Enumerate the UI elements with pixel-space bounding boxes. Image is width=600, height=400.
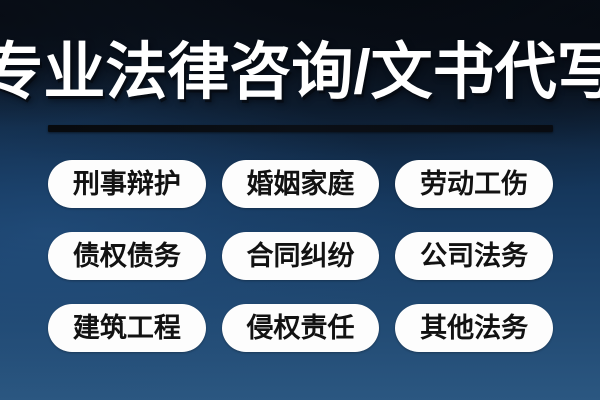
service-tag-construction-engineering[interactable]: 建筑工程	[48, 304, 206, 352]
page-title: 专业法律咨询/文书代写	[0, 31, 600, 115]
service-tag-row: 债权债务 合同纠纷 公司法务	[48, 232, 553, 280]
legal-services-banner: 专业法律咨询/文书代写 刑事辩护 婚姻家庭 劳动工伤 债权债务 合同纠纷 公司法…	[0, 0, 600, 400]
service-tag-corporate-legal[interactable]: 公司法务	[395, 232, 553, 280]
service-tag-labor-injury[interactable]: 劳动工伤	[395, 160, 553, 208]
service-tag-other-legal[interactable]: 其他法务	[395, 304, 553, 352]
service-tag-row: 刑事辩护 婚姻家庭 劳动工伤	[48, 160, 553, 208]
service-tag-creditor-debt[interactable]: 债权债务	[48, 232, 206, 280]
service-tag-tort-liability[interactable]: 侵权责任	[222, 304, 380, 352]
banner-content: 专业法律咨询/文书代写 刑事辩护 婚姻家庭 劳动工伤 债权债务 合同纠纷 公司法…	[0, 0, 600, 400]
service-tag-row: 建筑工程 侵权责任 其他法务	[48, 304, 553, 352]
service-tag-contract-dispute[interactable]: 合同纠纷	[222, 232, 380, 280]
title-underline-bar	[48, 125, 553, 132]
service-tag-marriage-family[interactable]: 婚姻家庭	[222, 160, 380, 208]
service-tag-criminal-defense[interactable]: 刑事辩护	[48, 160, 206, 208]
service-tag-grid: 刑事辩护 婚姻家庭 劳动工伤 债权债务 合同纠纷 公司法务 建筑工程 侵权责任 …	[48, 160, 553, 352]
